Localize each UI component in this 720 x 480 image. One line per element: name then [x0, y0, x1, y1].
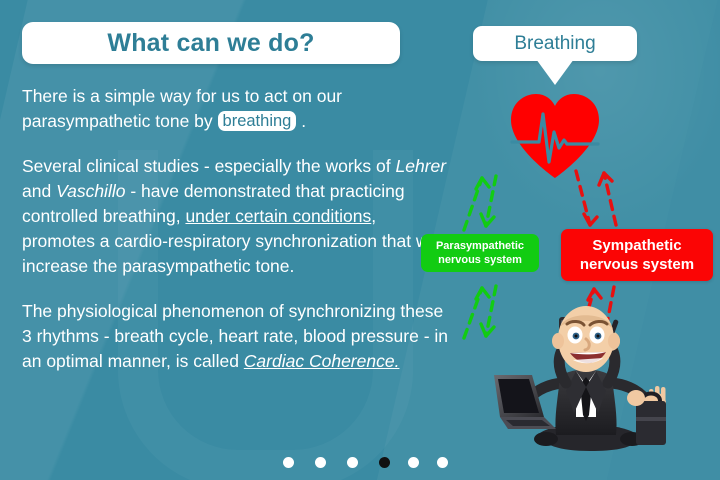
slide-title-pill: What can we do? [22, 22, 400, 64]
pagination-dot-2[interactable] [315, 457, 326, 468]
multitasking-businessman-illustration [470, 305, 700, 455]
pagination-dot-6[interactable] [437, 457, 448, 468]
callout-down-arrow-icon [536, 59, 574, 85]
term-cardiac-coherence: Cardiac Coherence. [244, 351, 400, 371]
pagination-dot-3[interactable] [347, 457, 358, 468]
label-sympathetic-line1: Sympathetic [563, 236, 711, 255]
paragraph-3: The physiological phenomenon of synchron… [22, 299, 452, 374]
label-parasympathetic-line1: Parasympathetic [423, 239, 537, 253]
author-vaschillo: Vaschillo [56, 181, 125, 201]
label-parasympathetic-line2: nervous system [423, 253, 537, 267]
page-title: What can we do? [107, 29, 314, 58]
slide-body-text: There is a simple way for us to act on o… [22, 84, 452, 374]
slide-canvas: What can we do? There is a simple way fo… [0, 0, 720, 480]
pagination-dot-1[interactable] [283, 457, 294, 468]
breathing-callout-label: Breathing [514, 33, 595, 55]
pagination-dots[interactable] [0, 452, 720, 472]
heart-with-ecg-icon [509, 92, 601, 180]
label-parasympathetic-nervous-system: Parasympathetic nervous system [421, 234, 539, 272]
paragraph-2-run-3: and [22, 181, 56, 201]
breathing-chip: breathing [218, 111, 297, 131]
paragraph-1-run-3: . [296, 111, 306, 131]
pagination-dot-4[interactable] [379, 457, 390, 468]
pagination-dot-5[interactable] [408, 457, 419, 468]
label-sympathetic-line2: nervous system [563, 255, 711, 274]
paragraph-2: Several clinical studies - especially th… [22, 154, 452, 279]
emphasis-under-certain-conditions: under certain conditions [185, 206, 371, 226]
paragraph-2-run-1: Several clinical studies - especially th… [22, 156, 396, 176]
paragraph-1: There is a simple way for us to act on o… [22, 84, 452, 134]
author-lehrer: Lehrer [396, 156, 447, 176]
label-sympathetic-nervous-system: Sympathetic nervous system [561, 229, 713, 281]
breathing-callout: Breathing [473, 26, 637, 61]
